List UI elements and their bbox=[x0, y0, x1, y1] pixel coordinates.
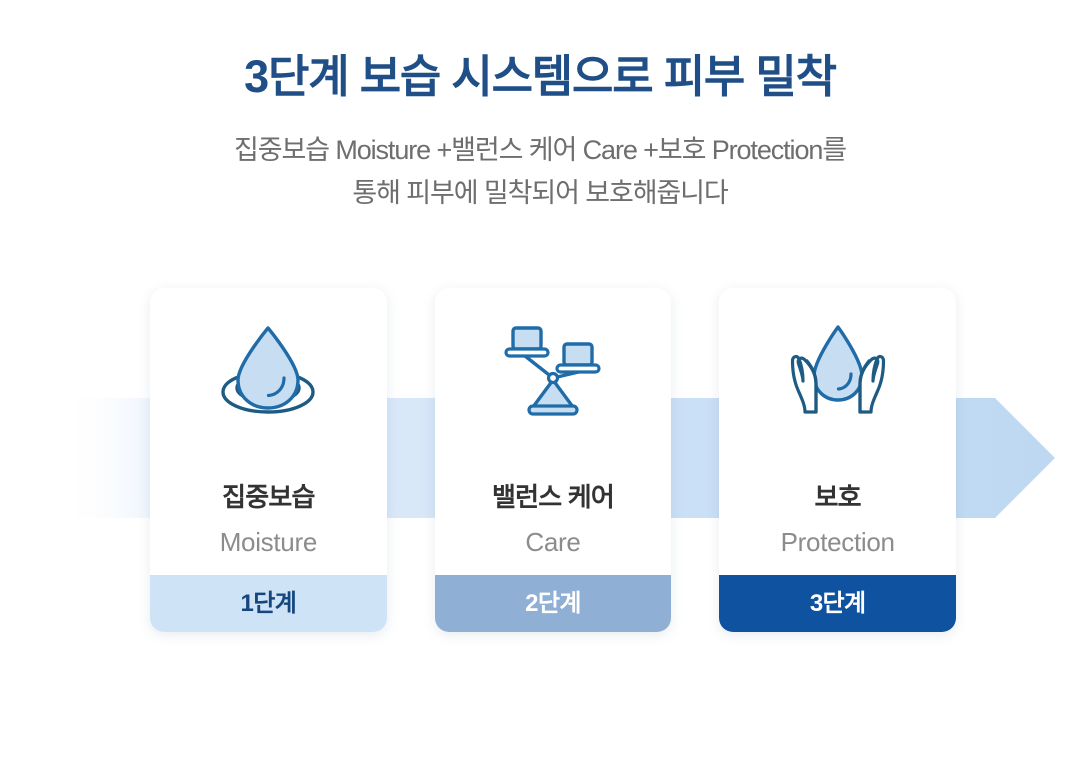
page-subtitle: 집중보습 Moisture +밸런스 케어 Care +보호 Protectio… bbox=[0, 103, 1080, 214]
water-drop-ripple-icon bbox=[214, 320, 322, 420]
subtitle-line-2: 통해 피부에 밀착되어 보호해줍니다 bbox=[0, 172, 1080, 215]
step-label-en: Moisture bbox=[220, 527, 317, 558]
hands-holding-drop-icon bbox=[784, 320, 892, 420]
step-card-body: 보호 Protection bbox=[719, 288, 956, 575]
step-card-body: 집중보습 Moisture bbox=[150, 288, 387, 575]
step-label-ko: 밸런스 케어 bbox=[492, 482, 614, 513]
header-block: 3단계 보습 시스템으로 피부 밀착 집중보습 Moisture +밸런스 케어… bbox=[0, 0, 1080, 214]
balance-scale-icon bbox=[499, 320, 607, 420]
step-badge-2: 2단계 bbox=[435, 575, 672, 632]
step-card-body: 밸런스 케어 Care bbox=[435, 288, 672, 575]
step-label-en: Care bbox=[525, 527, 580, 558]
page-title: 3단계 보습 시스템으로 피부 밀착 bbox=[0, 0, 1080, 103]
step-card-moisture[interactable]: 집중보습 Moisture 1단계 bbox=[150, 288, 387, 632]
step-badge-1: 1단계 bbox=[150, 575, 387, 632]
step-card-protection[interactable]: 보호 Protection 3단계 bbox=[719, 288, 956, 632]
step-label-ko: 보호 bbox=[815, 482, 861, 513]
step-badge-3: 3단계 bbox=[719, 575, 956, 632]
subtitle-line-1: 집중보습 Moisture +밸런스 케어 Care +보호 Protectio… bbox=[0, 129, 1080, 172]
step-card-care[interactable]: 밸런스 케어 Care 2단계 bbox=[435, 288, 672, 632]
promo-infographic-page: 3단계 보습 시스템으로 피부 밀착 집중보습 Moisture +밸런스 케어… bbox=[0, 0, 1080, 781]
step-label-en: Protection bbox=[781, 527, 895, 558]
steps-card-row: 집중보습 Moisture 1단계 bbox=[150, 288, 956, 632]
step-label-ko: 집중보습 bbox=[222, 482, 314, 513]
